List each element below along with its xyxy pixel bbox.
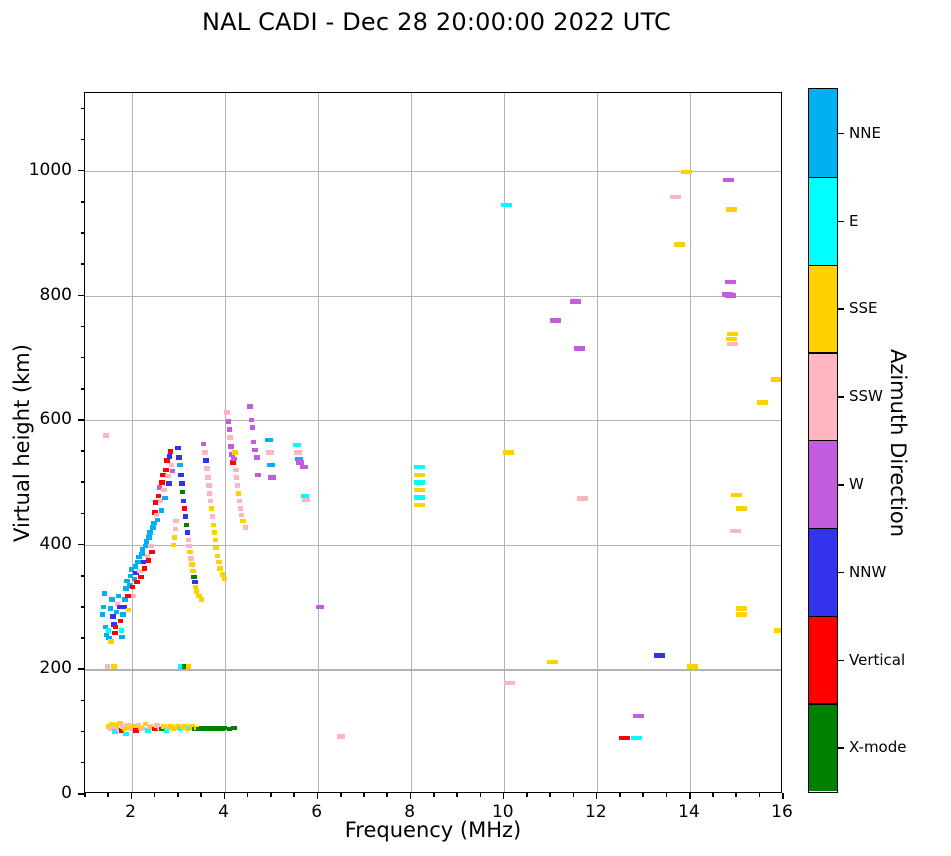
scatter-point [120, 612, 126, 617]
scatter-point [236, 491, 242, 496]
scatter-point [212, 530, 218, 535]
scatter-point [247, 404, 253, 409]
colorbar-separator [809, 352, 837, 353]
colorbar-label-w: W [849, 475, 864, 493]
y-tick-minor [81, 263, 85, 265]
scatter-point [163, 468, 169, 473]
scatter-point [227, 435, 233, 440]
scatter-point [103, 433, 109, 438]
x-tick-major [410, 793, 412, 799]
scatter-point [184, 523, 190, 528]
scatter-point [302, 498, 310, 503]
scatter-point [146, 558, 152, 563]
scatter-point [110, 614, 116, 619]
y-tick-label: 200 [40, 658, 72, 678]
scatter-point [215, 554, 221, 559]
scatter-point [175, 446, 181, 451]
scatter-point [210, 514, 216, 519]
scatter-point [414, 473, 425, 478]
scatter-point [207, 491, 213, 496]
x-tick-minor [480, 793, 482, 797]
x-tick-major [131, 793, 133, 799]
scatter-point [774, 628, 781, 633]
x-tick-minor [200, 793, 202, 797]
scatter-point [217, 566, 223, 571]
scatter-point [234, 475, 240, 480]
colorbar-label-vertical: Vertical [849, 651, 905, 669]
x-tick-minor [759, 793, 761, 797]
colorbar-segment-e [809, 177, 837, 265]
scatter-point [226, 419, 232, 424]
scatter-point [503, 450, 514, 455]
scatter-point [547, 660, 558, 665]
scatter-point [172, 535, 178, 540]
scatter-point [201, 442, 207, 447]
scatter-point [155, 518, 161, 523]
scatter-point [119, 635, 125, 640]
x-tick-major [782, 793, 784, 799]
y-tick-minor [81, 762, 85, 764]
y-tick-minor [81, 201, 85, 203]
colorbar-segment-nnw [809, 528, 837, 616]
x-tick-minor [666, 793, 668, 797]
scatter-point [235, 483, 241, 488]
colorbar-label-sse: SSE [849, 299, 878, 317]
scatter-point [130, 585, 136, 590]
scatter-point [147, 530, 153, 535]
scatter-point [206, 483, 212, 488]
x-tick-major [317, 793, 319, 799]
scatter-point [112, 631, 118, 636]
scatter-point [186, 664, 192, 669]
scatter-point [186, 538, 192, 543]
scatter-point [186, 544, 192, 549]
x-tick-minor [619, 793, 621, 797]
scatter-point [267, 463, 275, 468]
scatter-point [161, 488, 167, 493]
scatter-point [681, 170, 692, 175]
scatter-point [100, 612, 106, 617]
scatter-point [265, 438, 273, 443]
scatter-point [293, 443, 301, 448]
scatter-point [213, 538, 219, 543]
x-tick-minor [386, 793, 388, 797]
scatter-point [249, 418, 255, 423]
y-tick-minor [81, 108, 85, 110]
scatter-point [188, 556, 194, 561]
colorbar-tick [837, 221, 844, 223]
x-tick-minor [107, 793, 109, 797]
scatter-point [414, 495, 425, 500]
scatter-point [633, 714, 644, 719]
scatter-point [736, 606, 747, 611]
scatter-point [190, 569, 196, 574]
scatter-point [232, 450, 238, 455]
scatter-point [252, 448, 258, 453]
y-axis-label: Virtual height (km) [10, 344, 34, 542]
y-tick-label: 400 [40, 534, 72, 554]
scatter-point [231, 726, 237, 731]
scatter-point [203, 458, 209, 463]
scatter-point [167, 454, 173, 459]
scatter-point [159, 508, 165, 513]
scatter-point [189, 562, 195, 567]
scatter-point [254, 455, 260, 460]
scatter-point [149, 550, 155, 555]
scatter-point [619, 736, 630, 741]
x-tick-minor [340, 793, 342, 797]
scatter-point [570, 299, 581, 304]
scatter-point [108, 639, 114, 644]
y-tick-major [78, 295, 84, 297]
scatter-point [726, 207, 737, 212]
scatter-point [238, 506, 244, 511]
x-tick-major [689, 793, 691, 799]
scatter-point [199, 597, 205, 602]
colorbar-label-nnw: NNW [849, 563, 886, 581]
scatter-point [162, 496, 168, 501]
x-tick-minor [84, 793, 86, 797]
scatter-point [224, 410, 230, 415]
colorbar-separator [809, 528, 837, 529]
x-tick-minor [154, 793, 156, 797]
scatter-point [179, 481, 185, 486]
colorbar-label-e: E [849, 212, 858, 230]
scatter-point [146, 535, 152, 540]
scatter-point [177, 463, 183, 468]
scatter-point [771, 377, 781, 382]
scatter-point [180, 490, 186, 495]
y-tick-major [78, 668, 84, 670]
x-tick-minor [642, 793, 644, 797]
scatter-point [228, 444, 234, 449]
scatter-point [182, 506, 188, 511]
scatter-point [165, 474, 171, 479]
scatter-point [138, 575, 144, 580]
y-tick-minor [81, 139, 85, 141]
scatter-points-layer [85, 93, 781, 792]
scatter-point [159, 480, 165, 485]
y-tick-major [78, 419, 84, 421]
scatter-point [131, 594, 137, 599]
scatter-point [208, 499, 214, 504]
scatter-point [550, 318, 561, 323]
scatter-point [119, 628, 125, 633]
chart-plot-area [84, 92, 782, 793]
colorbar-label-x-mode: X-mode [849, 738, 906, 756]
scatter-point [187, 550, 193, 555]
y-tick-label: 1000 [29, 160, 72, 180]
colorbar-tick [837, 660, 844, 662]
scatter-point [204, 466, 210, 471]
colorbar: NNEESSESSWWNNWVerticalX-mode [808, 88, 838, 793]
scatter-point [725, 280, 736, 285]
scatter-point [231, 457, 237, 462]
scatter-point [414, 465, 425, 470]
colorbar-label-nne: NNE [849, 124, 881, 142]
y-tick-major [78, 544, 84, 546]
scatter-point [727, 332, 738, 337]
scatter-point [173, 527, 179, 532]
x-tick-minor [456, 793, 458, 797]
scatter-point [111, 664, 117, 669]
scatter-point [168, 449, 174, 454]
colorbar-tick [837, 747, 844, 749]
scatter-point [202, 450, 208, 455]
scatter-point [294, 450, 302, 455]
scatter-point [142, 566, 148, 571]
scatter-point [148, 544, 154, 549]
scatter-point [169, 463, 175, 468]
x-tick-minor [712, 793, 714, 797]
scatter-point [101, 605, 107, 610]
scatter-point [237, 499, 243, 504]
scatter-point [185, 530, 191, 535]
y-tick-minor [81, 326, 85, 328]
x-tick-minor [433, 793, 435, 797]
y-tick-minor [81, 637, 85, 639]
page-title: NAL CADI - Dec 28 20:00:00 2022 UTC [0, 8, 873, 36]
scatter-point [736, 506, 747, 511]
scatter-point [654, 653, 665, 658]
scatter-point [250, 425, 256, 430]
y-tick-minor [81, 513, 85, 515]
y-tick-minor [81, 232, 85, 234]
scatter-point [156, 494, 162, 499]
scatter-point [316, 605, 324, 610]
colorbar-segment-nne [809, 89, 837, 177]
y-tick-label: 0 [61, 783, 72, 803]
scatter-point [268, 475, 276, 480]
x-tick-minor [735, 793, 737, 797]
scatter-point [631, 736, 642, 741]
x-tick-minor [573, 793, 575, 797]
scatter-point [233, 468, 239, 473]
scatter-point [757, 400, 768, 405]
scatter-point [243, 525, 249, 530]
colorbar-tick [837, 133, 844, 135]
scatter-point [108, 606, 114, 611]
scatter-point [170, 469, 176, 474]
scatter-point [736, 612, 747, 617]
scatter-point [114, 610, 120, 615]
scatter-point [102, 591, 108, 596]
colorbar-separator [809, 265, 837, 266]
y-tick-minor [81, 575, 85, 577]
scatter-point [213, 546, 219, 551]
y-tick-minor [81, 388, 85, 390]
x-tick-major [596, 793, 598, 799]
y-tick-minor [81, 357, 85, 359]
scatter-point [134, 580, 140, 585]
x-tick-minor [526, 793, 528, 797]
y-tick-major [78, 793, 84, 795]
scatter-point [173, 519, 179, 524]
y-tick-minor [81, 450, 85, 452]
scatter-point [266, 450, 274, 455]
colorbar-label-ssw: SSW [849, 387, 883, 405]
x-axis-label: Frequency (MHz) [84, 818, 782, 842]
x-tick-major [503, 793, 505, 799]
scatter-point [222, 577, 228, 582]
y-tick-minor [81, 606, 85, 608]
scatter-point [211, 523, 217, 528]
colorbar-segment-w [809, 440, 837, 528]
colorbar-segment-x-mode [809, 703, 837, 791]
scatter-point [183, 514, 189, 519]
scatter-point [414, 488, 425, 493]
colorbar-separator [809, 703, 837, 704]
y-tick-label: 800 [40, 285, 72, 305]
scatter-point [116, 594, 122, 599]
colorbar-segment-vertical [809, 616, 837, 704]
scatter-point [176, 455, 182, 460]
y-tick-minor [81, 481, 85, 483]
scatter-point [574, 346, 585, 351]
scatter-point [723, 178, 734, 183]
scatter-point [670, 195, 681, 200]
x-tick-major [224, 793, 226, 799]
scatter-point [337, 734, 345, 739]
scatter-point [240, 519, 246, 524]
colorbar-segment-sse [809, 265, 837, 353]
x-tick-minor [247, 793, 249, 797]
scatter-point [725, 293, 736, 298]
scatter-point [181, 499, 187, 504]
scatter-point [687, 664, 698, 669]
scatter-point [251, 440, 257, 445]
scatter-point [674, 242, 685, 247]
y-tick-minor [81, 700, 85, 702]
scatter-point [178, 473, 184, 478]
colorbar-tick [837, 396, 844, 398]
x-tick-minor [177, 793, 179, 797]
scatter-point [216, 560, 222, 565]
scatter-point [106, 628, 112, 633]
y-tick-major [78, 170, 84, 172]
colorbar-tick [837, 572, 844, 574]
colorbar-tick [837, 484, 844, 486]
scatter-point [255, 473, 261, 478]
colorbar-title: Azimuth Direction [886, 348, 910, 536]
colorbar-separator [809, 177, 837, 178]
colorbar-separator [809, 440, 837, 441]
scatter-point [166, 481, 172, 486]
scatter-point [239, 513, 245, 518]
x-tick-minor [549, 793, 551, 797]
scatter-point [192, 580, 198, 585]
scatter-point [123, 732, 129, 737]
scatter-point [105, 664, 111, 669]
scatter-point [730, 529, 741, 534]
colorbar-tick [837, 308, 844, 310]
scatter-point [414, 503, 425, 508]
scatter-point [504, 681, 515, 686]
scatter-point [726, 337, 737, 342]
scatter-point [126, 608, 132, 613]
scatter-point [501, 203, 512, 208]
scatter-point [154, 513, 160, 518]
x-tick-minor [293, 793, 295, 797]
colorbar-segment-ssw [809, 352, 837, 440]
x-tick-minor [270, 793, 272, 797]
scatter-point [227, 427, 233, 432]
x-tick-minor [363, 793, 365, 797]
scatter-point [414, 480, 425, 485]
y-tick-minor [81, 731, 85, 733]
colorbar-separator [809, 616, 837, 617]
scatter-point [150, 525, 156, 530]
scatter-point [209, 506, 215, 511]
scatter-point [205, 475, 211, 480]
scatter-point [577, 496, 588, 501]
y-tick-label: 600 [40, 409, 72, 429]
scatter-point [731, 493, 742, 498]
scatter-point [300, 465, 308, 470]
scatter-point [191, 575, 197, 580]
scatter-point [727, 342, 738, 347]
scatter-point [171, 543, 177, 548]
scatter-point [118, 619, 124, 624]
